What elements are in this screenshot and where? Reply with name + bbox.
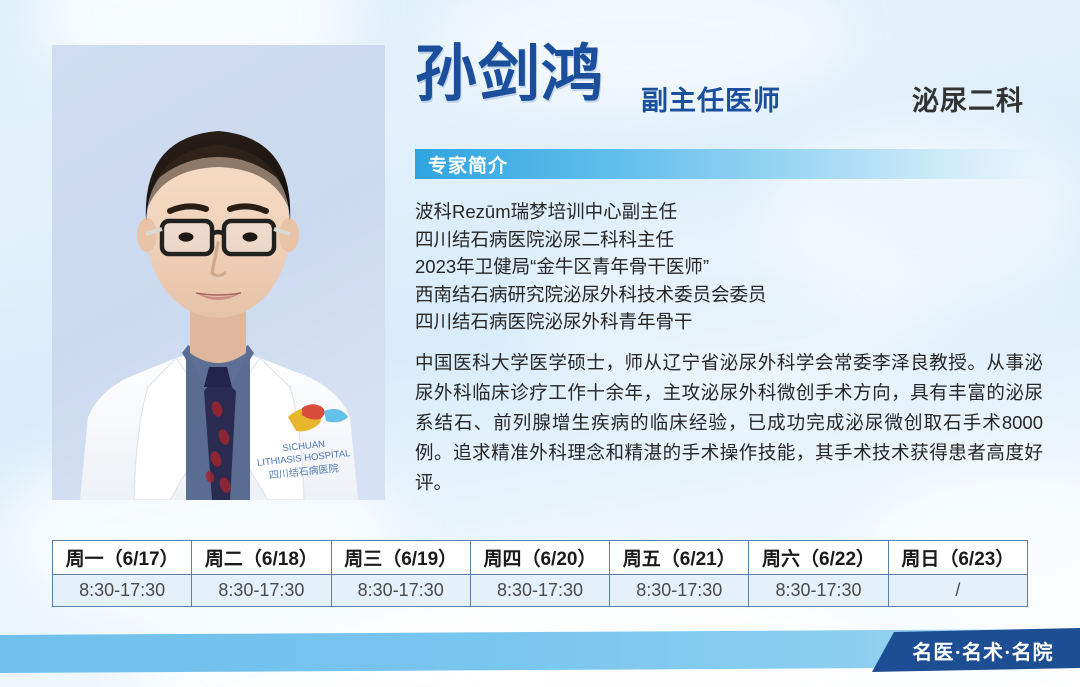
doctor-summary: 中国医科大学医学硕士，师从辽宁省泌尿外科学会常委李泽良教授。从事泌尿外科临床诊疗… — [415, 348, 1043, 498]
schedule-day-header: 周五（6/21） — [610, 541, 749, 575]
schedule-day-header: 周一（6/17） — [53, 541, 192, 575]
schedule-hours-cell: 8:30-17:30 — [470, 575, 609, 607]
schedule-day-header: 周六（6/22） — [749, 541, 888, 575]
schedule-day-header: 周四（6/20） — [470, 541, 609, 575]
portrait-illustration: SICHUAN LITHIASIS HOSPITAL 四川结石病医院 — [52, 45, 385, 500]
department-name: 泌尿二科 — [912, 79, 1024, 118]
footer-slogan-label: 名医·名术·名院 — [898, 636, 1053, 665]
schedule-hours-cell: 8:30-17:30 — [192, 575, 331, 607]
schedule-hours-cell: 8:30-17:30 — [53, 575, 192, 607]
schedule-hours-cell: / — [888, 575, 1027, 607]
schedule-header-row: 周一（6/17） 周二（6/18） 周三（6/19） 周四（6/20） 周五（6… — [53, 541, 1028, 575]
doctor-header: 孙剑鸿 副主任医师 泌尿二科 — [415, 48, 1055, 133]
schedule-day-header: 周日（6/23） — [888, 541, 1027, 575]
doctor-profile-card: SICHUAN LITHIASIS HOSPITAL 四川结石病医院 孙剑鸿 副… — [0, 0, 1080, 687]
credential-item: 2023年卫健局“金牛区青年骨干医师” — [415, 253, 1035, 281]
schedule-hours-cell: 8:30-17:30 — [331, 575, 470, 607]
credential-item: 四川结石病医院泌尿二科科主任 — [415, 226, 1035, 254]
footer-slogan-tag: 名医·名术·名院 — [872, 628, 1080, 672]
schedule-hours-cell: 8:30-17:30 — [749, 575, 888, 607]
profile-section-label: 专家简介 — [415, 151, 508, 178]
schedule-table: 周一（6/17） 周二（6/18） 周三（6/19） 周四（6/20） 周五（6… — [52, 540, 1028, 607]
doctor-portrait: SICHUAN LITHIASIS HOSPITAL 四川结石病医院 — [52, 45, 385, 500]
schedule-hours-cell: 8:30-17:30 — [610, 575, 749, 607]
doctor-name: 孙剑鸿 — [415, 44, 604, 106]
profile-section-bar: 专家简介 — [415, 149, 1040, 179]
schedule-hours-row: 8:30-17:30 8:30-17:30 8:30-17:30 8:30-17… — [53, 575, 1028, 607]
credential-item: 波科Rezūm瑞梦培训中心副主任 — [415, 198, 1035, 226]
schedule-day-header: 周三（6/19） — [331, 541, 470, 575]
schedule-day-header: 周二（6/18） — [192, 541, 331, 575]
credential-item: 四川结石病医院泌尿外科青年骨干 — [415, 308, 1035, 336]
credential-item: 西南结石病研究院泌尿外科技术委员会委员 — [415, 281, 1035, 309]
doctor-title: 副主任医师 — [641, 79, 781, 118]
credentials-list: 波科Rezūm瑞梦培训中心副主任 四川结石病医院泌尿二科科主任 2023年卫健局… — [415, 198, 1035, 336]
